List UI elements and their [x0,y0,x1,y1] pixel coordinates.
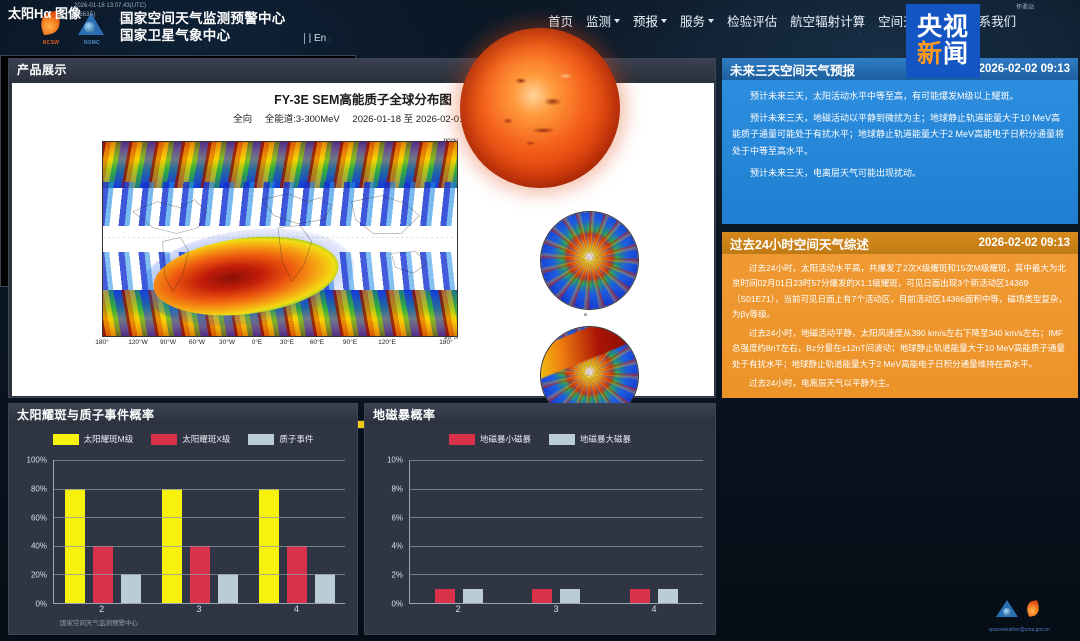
legend-item[interactable]: 太阳耀斑X级 [151,433,230,445]
grid-line [54,517,345,518]
forecast-paragraph: 预计未来三天，太阳活动水平中等至高，有可能爆发M级以上耀斑。 [732,88,1068,105]
bar-group [532,460,580,603]
nav-label: 服务 [680,11,705,30]
review-paragraph: 过去24小时，太阳活动水平高，共爆发了2次X级耀斑和15次M级耀斑，其中最大为北… [732,261,1068,322]
bar[interactable] [435,589,455,603]
product-panel-title: 产品展示 [17,61,67,78]
flare-panel-header: 太阳耀斑与质子事件概率 [9,404,357,425]
nav-item-monitoring[interactable]: 监测 [586,11,620,30]
forecast-panel-title: 未来三天空间天气预报 [730,60,855,79]
nav-label: 检验评估 [727,11,777,30]
sun-image-timestamp: 2026-01-18 13:07.43(UTC) (6563Å) [74,2,146,20]
nav-item-services[interactable]: 服务 [680,11,714,30]
page-root: NCSW NSMC 国家空间天气监测预警中心 国家卫星气象中心 | En 首页 … [0,0,1080,641]
nav-item-aviation-radiation[interactable]: 航空辐射计算 [790,11,865,30]
legend-item[interactable]: 质子事件 [248,433,313,445]
legend-item[interactable]: 地磁暴小磁暴 [449,433,531,445]
bar[interactable] [560,589,580,603]
flare-legend: 太阳耀斑M级 太阳耀斑X级 质子事件 [9,433,357,445]
legend-swatch [549,434,575,445]
y-axis-tick: 80% [31,484,47,493]
review-panel-header: 过去24小时空间天气综述 2026-02-02 09:13 [722,232,1078,254]
y-axis-tick: 20% [31,571,47,580]
forecast-body: 预计未来三天，太阳活动水平中等至高，有可能爆发M级以上耀斑。 预计未来三天，地磁… [722,80,1078,194]
sun-footer-email: spaceweather@cma.gov.cn [989,627,1050,633]
legend-label: 地磁暴大磁暴 [580,433,631,445]
map-sub-direction: 全向 [233,114,252,125]
north-polar-label: a [584,312,587,318]
sun-panel-title: 太阳Hα 图像 [8,3,81,22]
legend-label: 太阳耀斑M级 [84,433,134,445]
forecast-paragraph: 预计未来三天，电离层天气可能出现扰动。 [732,165,1068,182]
coastline-overlay [103,142,457,337]
watermark-line-1: 央视 [917,15,969,40]
map-xtick: 60°W [189,339,205,346]
forecast-panel-header: 未来三天空间天气预报 2026-02-02 09:13 [722,58,1078,80]
grid-line [54,489,345,490]
flare-plot-area: 0%20%40%60%80%100% 234 [9,460,357,628]
grid-line [54,546,345,547]
watermark-char-wen: 闻 [943,40,969,68]
geomag-grid [409,460,703,604]
x-axis-tick: 4 [651,604,656,622]
legend-swatch [53,434,79,445]
review-paragraph: 过去24小时，地磁活动平静，太阳风速度从390 km/s左右下降至340 km/… [732,326,1068,372]
forecast-timestamp: 2026-02-02 09:13 [979,63,1070,75]
flare-bars [54,460,345,603]
map-heat-layer [103,142,457,336]
map-sub-channel: 全能道:3-300MeV [265,114,340,125]
bar-group [259,460,335,603]
bar[interactable] [218,574,238,603]
flare-probability-panel: 太阳耀斑与质子事件概率 太阳耀斑M级 太阳耀斑X级 质子事件 0%20%40%6… [8,403,358,635]
three-day-forecast-panel: 未来三天空间天气预报 2026-02-02 09:13 预计未来三天，太阳活动水… [722,58,1078,224]
review-timestamp: 2026-02-02 09:13 [979,237,1070,249]
legend-label: 太阳耀斑X级 [182,433,230,445]
map-xtick: 0°E [252,339,263,346]
flare-y-axis: 0%20%40%60%80%100% [17,460,51,604]
nav-label: 航空辐射计算 [790,11,865,30]
nav-item-forecast[interactable]: 预报 [633,11,667,30]
sun-station-label: 怀柔站 [1016,2,1034,11]
nsmc-logo-label: NSMC [75,40,109,46]
solar-disk-image [460,28,620,188]
legend-swatch [151,434,177,445]
grid-line [54,574,345,575]
legend-swatch [248,434,274,445]
grid-line [54,460,345,461]
bar[interactable] [658,589,678,603]
map-xtick: 120°E [378,339,396,346]
y-axis-tick: 60% [31,513,47,522]
grid-line [410,489,703,490]
legend-swatch [449,434,475,445]
nav-label: 首页 [548,11,573,30]
chevron-down-icon [708,19,714,23]
y-axis-tick: 100% [27,456,47,465]
geomag-plot-area: 0%2%4%6%8%10% 234 [365,460,715,628]
bar-group [435,460,483,603]
geomag-x-axis: 234 [409,604,703,622]
chevron-down-icon [661,19,667,23]
review-paragraph: 过去24小时，电离层天气以平静为主。 [732,376,1068,391]
y-axis-tick: 0% [391,600,403,609]
geomag-panel-title: 地磁暴概率 [373,406,436,423]
y-axis-tick: 2% [391,571,403,580]
geomag-bars [410,460,703,603]
sun-footer-org: 国家空间天气监测预警中心 [60,617,138,627]
bar-group [162,460,238,603]
y-axis-tick: 10% [387,456,403,465]
sun-stamp-line-1: 2026-01-18 13:07.43(UTC) [74,2,146,11]
x-axis-tick: 3 [553,604,558,622]
forecast-paragraph: 预计未来三天，地磁活动以平静到微扰为主；地球静止轨道能量大于10 MeV高能质子… [732,110,1068,160]
bar[interactable] [630,589,650,603]
map-xtick: 180° [439,339,452,346]
cctv-news-watermark: 央视 新闻 [906,4,980,78]
bar[interactable] [463,589,483,603]
bar-group [65,460,141,603]
y-axis-tick: 8% [391,484,403,493]
map-xtick: 30°E [280,339,294,346]
watermark-char-xin: 新 [917,40,943,68]
y-axis-tick: 6% [391,513,403,522]
map-xaxis: 180° 120°W 90°W 60°W 30°W 0°E 30°E 60°E … [102,339,458,349]
bar[interactable] [532,589,552,603]
bar[interactable] [315,574,335,603]
chevron-down-icon [614,19,620,23]
x-axis-tick: 3 [196,604,201,622]
bar-group [630,460,678,603]
x-axis-tick: 4 [294,604,299,622]
past-24h-review-panel: 过去24小时空间天气综述 2026-02-02 09:13 过去24小时，太阳活… [722,232,1078,398]
org-line-2: 国家卫星气象中心 [120,28,286,45]
legend-label: 地磁暴小磁暴 [480,433,531,445]
global-proton-map: 90°N 60°N 30°N 0° 30°S 60°S 90°S [78,141,458,351]
map-xtick: 30°W [219,339,235,346]
grid-line [410,574,703,575]
grid-line [410,546,703,547]
grid-line [410,460,703,461]
geomag-panel-header: 地磁暴概率 [365,404,715,425]
map-xtick: 60°E [310,339,324,346]
geomag-y-axis: 0%2%4%6%8%10% [373,460,407,604]
map-xtick: 90°E [343,339,357,346]
y-axis-tick: 40% [31,542,47,551]
x-axis-tick: 2 [455,604,460,622]
map-xtick: 90°W [160,339,176,346]
legend-item[interactable]: 太阳耀斑M级 [53,433,134,445]
nav-label: 监测 [586,11,611,30]
flare-grid [53,460,345,604]
nsmc-logo-icon [996,599,1018,621]
y-axis-tick: 0% [35,600,47,609]
review-panel-title: 过去24小时空间天气综述 [730,234,869,253]
watermark-line-2: 新闻 [917,42,969,67]
north-polar-plot [540,211,639,310]
flare-panel-title: 太阳耀斑与质子事件概率 [17,406,155,423]
map-plot-area [102,141,458,337]
bar[interactable] [121,574,141,603]
map-xtick: 180° [95,339,108,346]
map-xtick: 120°W [128,339,148,346]
legend-item[interactable]: 地磁暴大磁暴 [549,433,631,445]
ncsw-logo-label: NCSW [34,40,68,46]
ncsw-logo-icon [1023,599,1043,621]
y-axis-tick: 4% [391,542,403,551]
nav-item-home[interactable]: 首页 [548,11,573,30]
nav-label: 预报 [633,11,658,30]
sun-stamp-line-2: (6563Å) [74,11,146,20]
nav-item-verification[interactable]: 检验评估 [727,11,777,30]
language-toggle[interactable]: | En [304,33,327,44]
grid-line [410,517,703,518]
limb-darkening [460,28,620,188]
review-body: 过去24小时，太阳活动水平高，共爆发了2次X级耀斑和15次M级耀斑，其中最大为北… [722,254,1078,402]
sun-footer-logos: spaceweather@cma.gov.cn [989,599,1050,633]
geomagnetic-storm-panel: 地磁暴概率 地磁暴小磁暴 地磁暴大磁暴 0%2%4%6%8%10% 234 [364,403,716,635]
legend-label: 质子事件 [279,433,313,445]
geomag-legend: 地磁暴小磁暴 地磁暴大磁暴 [365,433,715,445]
